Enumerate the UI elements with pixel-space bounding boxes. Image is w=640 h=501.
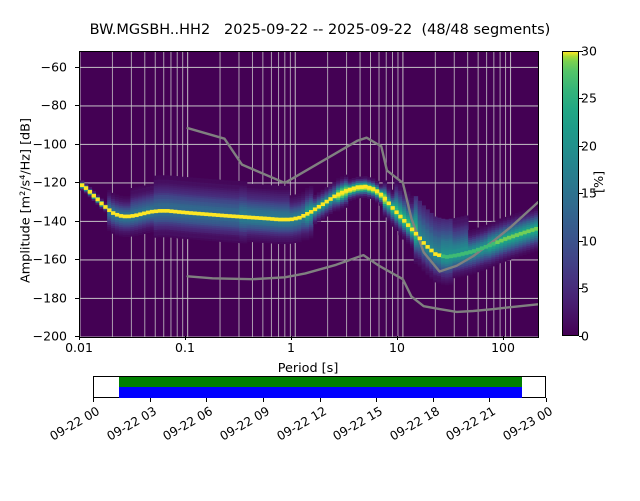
x-tick-label: 0.1 — [175, 340, 195, 355]
timeline-tick-label: 09-22 18 — [379, 404, 441, 448]
x-tick-mark — [185, 336, 186, 340]
x-tick-label: 0.01 — [65, 340, 93, 355]
colorbar-tick-mark — [579, 98, 583, 99]
x-axis-label: Period [s] — [79, 361, 537, 376]
timeline-tick-label: 09-22 15 — [323, 404, 385, 448]
timeline-tick-mark — [376, 398, 377, 402]
x-tick-mark — [503, 336, 504, 340]
x-tick-mark — [291, 336, 292, 340]
colorbar-label: [%] — [592, 171, 607, 193]
colorbar — [562, 51, 579, 336]
x-tick-label: 1 — [287, 340, 295, 355]
timeline-tick-mark — [546, 398, 547, 402]
timeline-coverage-bar — [119, 387, 522, 398]
timeline-tick-label: 09-22 12 — [266, 404, 328, 448]
colorbar-tick-label: 30 — [581, 44, 597, 59]
colorbar-tick-mark — [579, 336, 583, 337]
ppsd-plot-area[interactable] — [79, 51, 539, 338]
timeline-tick-mark — [320, 398, 321, 402]
timeline-tick-mark — [150, 398, 151, 402]
colorbar-tick-mark — [579, 288, 583, 289]
y-tick-label: −160 — [7, 252, 67, 267]
y-axis-label: Amplitude [m²/s⁴/Hz] [dB] — [19, 0, 34, 501]
density-cloud — [80, 175, 538, 286]
timeline-tick-label: 09-22 09 — [209, 404, 271, 448]
timeline-tick-label: 09-22 21 — [436, 404, 498, 448]
colorbar-tick-mark — [579, 241, 583, 242]
x-tick-label: 100 — [491, 340, 515, 355]
colorbar-tick-label: 25 — [581, 91, 597, 106]
timeline-tick-label: 09-22 06 — [153, 404, 215, 448]
y-tick-label: −120 — [7, 175, 67, 190]
timeline-tick-mark — [206, 398, 207, 402]
x-tick-mark — [397, 336, 398, 340]
timeline-tick-mark — [433, 398, 434, 402]
timeline-tick-label: 09-22 00 — [40, 404, 102, 448]
y-tick-label: −200 — [7, 329, 67, 344]
y-tick-label: −140 — [7, 214, 67, 229]
y-tick-label: −180 — [7, 291, 67, 306]
y-tick-label: −100 — [7, 137, 67, 152]
y-tick-label: −60 — [7, 60, 67, 75]
timeline-tick-mark — [489, 398, 490, 402]
colorbar-tick-mark — [579, 193, 583, 194]
timeline-tick-mark — [93, 398, 94, 402]
timeline-tick-mark — [263, 398, 264, 402]
timeline-data-bar — [119, 377, 522, 387]
x-tick-label: 10 — [389, 340, 405, 355]
ppsd-plot-canvas — [80, 52, 538, 337]
x-tick-mark — [79, 336, 80, 340]
colorbar-tick-label: 10 — [581, 234, 597, 249]
colorbar-tick-label: 20 — [581, 139, 597, 154]
page-title: BW.MGSBH..HH2 2025-09-22 -- 2025-09-22 (… — [0, 22, 640, 38]
y-tick-label: −80 — [7, 98, 67, 113]
colorbar-tick-mark — [579, 51, 583, 52]
colorbar-tick-mark — [579, 146, 583, 147]
timeline-tick-label: 09-22 03 — [96, 404, 158, 448]
timeline-widget[interactable] — [93, 376, 546, 398]
timeline-tick-label: 09-23 00 — [493, 404, 555, 448]
